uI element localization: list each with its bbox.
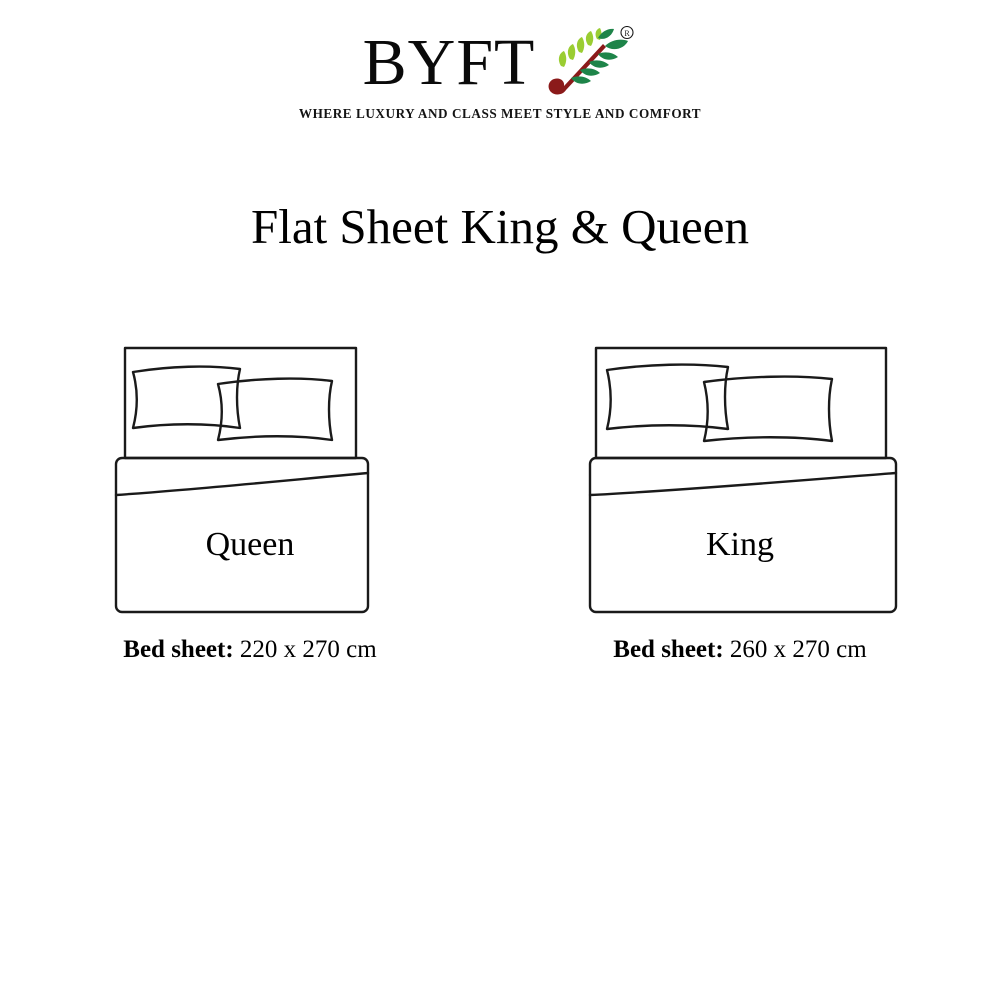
bed-caption-value-queen: 220 x 270 cm [240, 636, 377, 663]
bed-figure-king: King Bed sheet: 260 x 270 cm [570, 340, 910, 625]
queen-sheet-fold [116, 473, 368, 495]
brand-wordmark: BYFT [363, 26, 536, 100]
king-bed-body [590, 458, 896, 612]
bed-caption-label-queen: Bed sheet: [123, 636, 233, 663]
brand-header: BYFT [0, 26, 1000, 122]
bed-caption-queen: Bed sheet: 220 x 270 cm [100, 636, 400, 664]
bed-figure-queen: Queen Bed sheet: 220 x 270 cm [100, 340, 400, 625]
size-chart-page: BYFT [0, 0, 1000, 1000]
king-bed-illustration [570, 340, 910, 625]
queen-pillow-right [218, 379, 332, 440]
queen-pillow-left [133, 367, 240, 428]
leaf-branch-icon: R [541, 26, 637, 100]
bed-caption-label-king: Bed sheet: [613, 636, 723, 663]
svg-text:R: R [625, 29, 631, 38]
brand-logo-row: BYFT [0, 26, 1000, 100]
queen-headboard [125, 348, 356, 458]
king-pillow-right [704, 377, 832, 441]
king-sheet-fold [590, 473, 896, 495]
page-title: Flat Sheet King & Queen [0, 195, 1000, 259]
brand-tagline: WHERE LUXURY AND CLASS MEET STYLE AND CO… [0, 106, 1000, 122]
queen-bed-body [116, 458, 368, 612]
registered-mark-icon: R [621, 27, 633, 39]
bed-caption-king: Bed sheet: 260 x 270 cm [570, 636, 910, 664]
bed-diagram-group: Queen Bed sheet: 220 x 270 cm [0, 340, 1000, 680]
king-headboard [596, 348, 886, 458]
bed-caption-value-king: 260 x 270 cm [730, 636, 867, 663]
king-pillow-left [607, 365, 728, 429]
queen-bed-illustration [100, 340, 400, 625]
